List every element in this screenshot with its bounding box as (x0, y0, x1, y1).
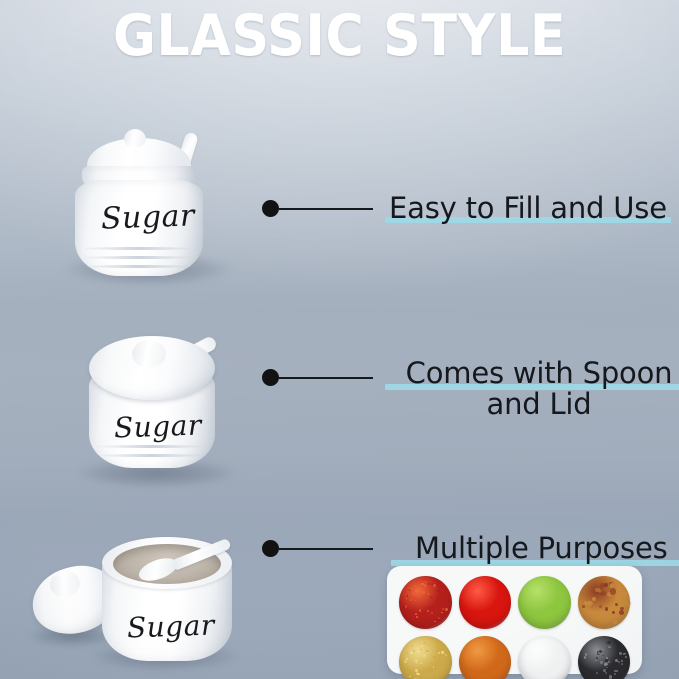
lid-knob (124, 129, 146, 147)
food-speck (585, 653, 587, 655)
food-speck (587, 601, 593, 607)
food-cell (518, 636, 571, 679)
food-speck (605, 672, 607, 674)
food-speck (422, 622, 423, 623)
jar-rib-1 (98, 445, 206, 448)
food-cell (578, 636, 631, 679)
food-speck (419, 609, 421, 611)
food-speck (435, 665, 438, 668)
jar-rib-1 (84, 247, 194, 250)
food-speck (430, 662, 432, 664)
food-speck (425, 581, 426, 582)
food-speck (412, 645, 414, 647)
food-speck (441, 651, 443, 653)
food-speck (619, 610, 624, 615)
food-speck (434, 668, 435, 669)
food-dot-white-salt (518, 636, 571, 679)
food-speck (605, 607, 609, 611)
food-speck (608, 661, 610, 663)
food-speck (620, 607, 624, 611)
food-speck (407, 595, 408, 596)
bullet-dot-icon (262, 369, 279, 386)
food-speck (604, 663, 607, 666)
food-speck (439, 600, 442, 603)
food-speck (418, 613, 421, 616)
food-cell (399, 636, 452, 679)
jar-rib-2 (98, 454, 206, 457)
food-speck (415, 590, 417, 592)
bullet-dot-icon (262, 540, 279, 557)
food-speck (610, 669, 613, 672)
feature-label: Easy to Fill and Use (389, 191, 667, 225)
food-speck (608, 646, 610, 648)
food-speck (623, 664, 625, 666)
food-cell (459, 576, 512, 629)
food-speck (436, 621, 439, 624)
food-speck (429, 606, 432, 609)
food-speck (418, 669, 420, 671)
food-speck (585, 669, 587, 671)
jar-rib-2 (84, 256, 194, 259)
food-speck (426, 644, 427, 645)
food-speck (592, 597, 596, 601)
food-dot-chili-flakes (399, 576, 452, 629)
food-speck (600, 591, 605, 596)
food-speck (415, 659, 418, 662)
food-speck (428, 593, 430, 595)
food-dot-dried-fruit-and-nuts (578, 576, 631, 629)
connector-line (279, 377, 373, 379)
food-sample-grid (387, 566, 642, 674)
jar-open: Sugar (20, 525, 250, 679)
food-cell (518, 576, 571, 629)
food-speck (416, 616, 418, 618)
food-speck (622, 592, 627, 597)
food-speck (612, 611, 615, 614)
feature-spoon-and-lid: Comes with Spoon and Lid (262, 358, 679, 421)
food-speck (606, 667, 608, 669)
food-speck (421, 645, 423, 647)
food-speck (415, 600, 416, 601)
food-speck (619, 652, 622, 655)
food-speck (622, 672, 624, 674)
food-speck (604, 583, 608, 587)
food-speck (616, 670, 618, 672)
food-speck (426, 646, 427, 647)
bullet-dot-icon (262, 200, 279, 217)
food-speck (613, 620, 617, 624)
food-speck (418, 652, 419, 653)
food-speck (409, 589, 411, 591)
feature-easy-to-fill: Easy to Fill and Use (262, 193, 667, 224)
food-dot-red-chili-sauce (459, 576, 512, 629)
food-speck (406, 598, 407, 599)
food-speck (438, 652, 440, 654)
page-title: GLASSIC STYLE (27, 8, 652, 65)
food-speck (441, 612, 443, 614)
food-cell (578, 576, 631, 629)
food-speck (439, 645, 442, 648)
food-speck (621, 663, 623, 665)
food-speck (442, 589, 445, 592)
food-speck (437, 658, 439, 660)
feature-text-wrap: Comes with Spoon and Lid (389, 358, 679, 421)
food-speck (584, 656, 587, 659)
food-speck (625, 601, 630, 606)
food-dot-orange-chili-powder (459, 636, 512, 679)
feature-label: Multiple Purposes (415, 531, 668, 565)
food-speck (442, 656, 445, 659)
food-speck (423, 654, 426, 657)
product-infographic: GLASSIC STYLE Sugar Sugar (0, 0, 679, 679)
jar-rib-3 (84, 265, 194, 268)
feature-label-line-1: Comes with Spoon (389, 358, 679, 389)
food-speck (608, 641, 611, 644)
food-speck (431, 612, 433, 614)
food-speck (424, 642, 425, 643)
food-speck (420, 649, 421, 650)
food-speck (596, 672, 598, 674)
food-speck (412, 616, 415, 619)
food-speck (444, 668, 445, 669)
food-speck (426, 623, 429, 626)
food-speck (405, 605, 408, 608)
food-speck (415, 613, 417, 615)
lid-knob (132, 340, 166, 368)
food-speck (427, 652, 428, 653)
food-speck (599, 605, 602, 608)
feature-multiple-purposes: Multiple Purposes (262, 533, 668, 564)
sugar-label: Sugar (126, 608, 215, 644)
food-speck (445, 608, 448, 611)
food-speck (600, 661, 603, 664)
food-speck (618, 661, 620, 663)
food-speck (614, 673, 616, 675)
jar-closed-top: Sugar (72, 330, 252, 490)
food-speck (611, 658, 612, 659)
food-speck (416, 663, 418, 665)
jar-closed-front: Sugar (58, 112, 238, 287)
food-speck (410, 599, 412, 601)
sugar-label: Sugar (113, 408, 202, 444)
food-speck (609, 675, 612, 678)
food-speck (625, 656, 627, 658)
food-speck (621, 660, 624, 663)
food-speck (404, 660, 407, 663)
food-speck (406, 652, 408, 654)
food-speck (610, 588, 616, 594)
food-speck (442, 608, 444, 610)
food-speck (605, 659, 608, 662)
food-speck (433, 656, 436, 659)
food-speck (615, 659, 618, 662)
sugar-label: Sugar (100, 198, 195, 236)
food-speck (416, 672, 419, 675)
food-speck (430, 596, 433, 599)
feature-label-line-2: and Lid (389, 389, 679, 420)
food-speck (595, 660, 596, 661)
food-speck (445, 654, 447, 656)
connector-line (279, 208, 373, 210)
food-speck (425, 607, 427, 609)
food-speck (602, 655, 603, 656)
food-dot-green-tea-powder (518, 576, 571, 629)
food-speck (438, 616, 441, 619)
feature-text-wrap: Easy to Fill and Use (389, 193, 667, 224)
food-speck (424, 584, 427, 587)
food-speck (444, 598, 447, 601)
food-speck (621, 669, 623, 671)
food-dot-yellow-millet-grains (399, 636, 452, 679)
food-speck (409, 676, 411, 678)
food-speck (422, 591, 425, 594)
food-speck (603, 669, 606, 672)
feature-text-wrap: Multiple Purposes (415, 533, 668, 564)
food-speck (435, 653, 437, 655)
food-cell (459, 636, 512, 679)
food-speck (582, 605, 585, 608)
food-speck (430, 670, 432, 672)
food-speck (437, 589, 440, 592)
food-speck (414, 585, 416, 587)
food-speck (413, 650, 415, 652)
connector-line (279, 548, 373, 550)
food-speck (602, 649, 604, 651)
food-speck (428, 583, 430, 585)
food-speck (427, 610, 429, 612)
food-speck (413, 593, 415, 595)
food-dot-black-sesame-seeds (578, 636, 631, 679)
food-speck (596, 657, 598, 659)
food-speck (436, 650, 437, 651)
food-cell (399, 576, 452, 629)
